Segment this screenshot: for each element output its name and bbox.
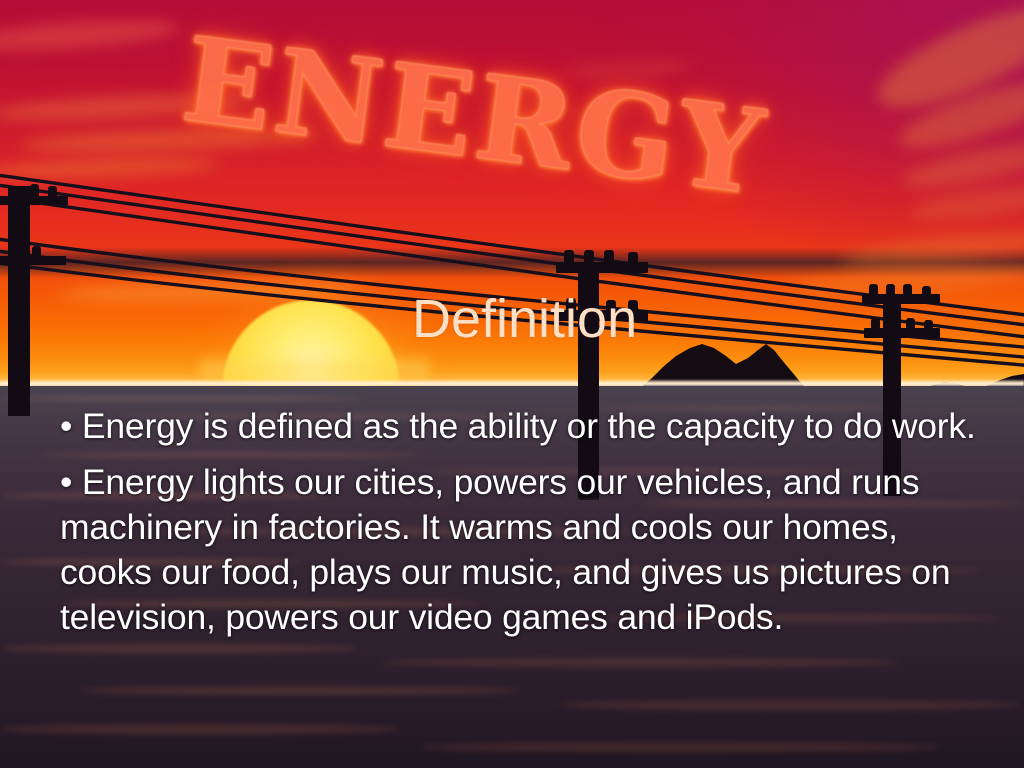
bullet-marker: • (60, 462, 72, 502)
slide-body: • Energy is defined as the ability or th… (60, 404, 990, 642)
bullet-text: Energy lights our cities, powers our veh… (60, 462, 950, 637)
utility-pole-left (0, 184, 68, 416)
bullet-item: • Energy is defined as the ability or th… (60, 404, 990, 449)
bullet-marker: • (60, 406, 72, 446)
bullet-text: Energy is defined as the ability or the … (82, 406, 976, 446)
bullet-item: • Energy lights our cities, powers our v… (60, 460, 990, 640)
slide-subtitle: Definition (412, 292, 637, 346)
presentation-slide: ENERGY Definition • Energy is defined as… (0, 0, 1024, 768)
